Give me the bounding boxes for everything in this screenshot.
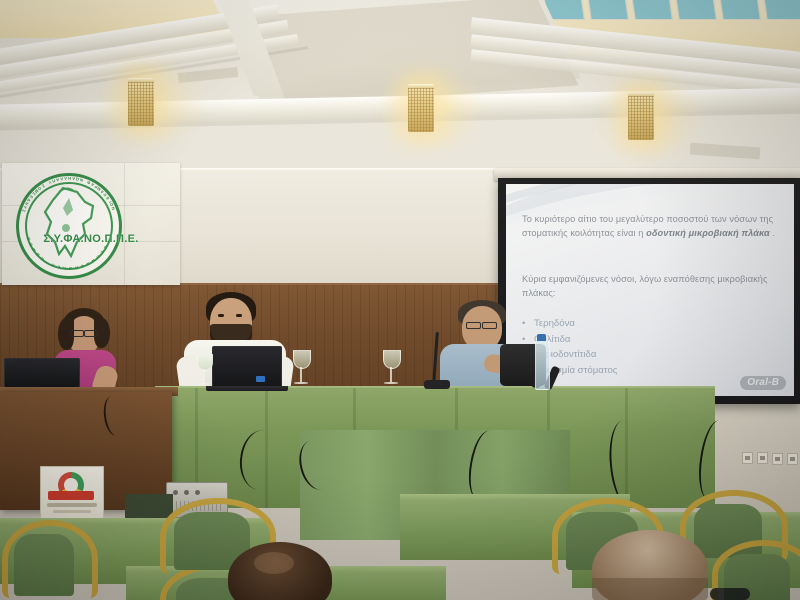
microphone-base — [424, 380, 450, 389]
hp-logo-icon — [256, 376, 265, 382]
eye-left — [218, 314, 224, 317]
slide-bullet-item: • Τερηδόνα — [522, 316, 782, 332]
audience-head-left-highlight — [254, 552, 294, 574]
slide-paragraph-1: Το κυριότερο αίτιο του μεγαλύτερο ποσοστ… — [522, 212, 782, 240]
oral-b-logo: Oral-B — [740, 376, 786, 390]
eyeglasses-on-table-icon — [710, 588, 750, 600]
eyeglasses-icon — [482, 322, 497, 329]
slide-bullet-item: • Κακοσμία στόματος — [522, 363, 782, 379]
wine-glass-left — [196, 354, 212, 390]
slide-bullet-item: • Περιοδοντίτιδα — [522, 347, 782, 363]
bullet-text: Τερηδόνα — [534, 318, 575, 329]
presenter-laptop-base — [206, 386, 288, 391]
power-outlet-2 — [757, 452, 768, 464]
wine-glass-right — [292, 350, 310, 390]
slide-p1-emphasis: οδοντική μικροβιακή πλάκα — [646, 228, 770, 238]
presenter-laptop-hp[interactable] — [212, 346, 282, 388]
slide-p2-text: Κύρια εμφανιζόμενες νόσοι, λόγω εναπόθεσ… — [522, 272, 782, 300]
eyeglasses-icon — [70, 330, 84, 337]
slide-bullet-list: • Τερηδόνα • Ουλίτιδα • Περιοδοντίτιδα •… — [522, 316, 782, 378]
sponsor-poster — [40, 466, 104, 526]
audience-head-right-hairline — [592, 578, 708, 600]
banner-ring-text: ΣΥΝΔΕΣΜΟΣ ΥΠΑΛΛΗΛΩΝ ΦΑΡΜΑΚΕΙΩΝΝΟΜΩΝ ΠΕΛΟ… — [19, 176, 119, 276]
sponsor-subtext — [53, 510, 91, 513]
sconce-light-center — [408, 84, 434, 132]
power-outlet-3 — [772, 453, 783, 465]
sponsor-name-band — [48, 491, 94, 500]
banner-acronym: Σ.Υ.ΦΑ.ΝΟ.Π.Π.Ε. — [16, 233, 166, 245]
skylight-panes — [543, 0, 800, 22]
organization-banner: ΣΥΝΔΕΣΜΟΣ ΥΠΑΛΛΗΛΩΝ ΦΑΡΜΑΚΕΙΩΝΝΟΜΩΝ ΠΕΛΟ… — [2, 163, 180, 285]
bottle-cap — [537, 334, 546, 341]
sponsor-tagline — [47, 503, 97, 507]
banquet-chair[interactable] — [2, 520, 98, 600]
power-outlet-4 — [787, 453, 798, 465]
sconce-light-left — [128, 78, 154, 126]
eyeglasses-icon — [84, 330, 98, 337]
podium-laptop[interactable] — [4, 358, 80, 388]
wine-glass-far-right — [382, 350, 400, 390]
ceiling-vent-right — [690, 143, 761, 160]
slide-p1-tail: . — [770, 228, 775, 238]
plastic-water-bottle — [535, 340, 550, 390]
sconce-light-right — [628, 92, 654, 140]
slide-bullet-item: • Ουλίτιδα — [522, 332, 782, 348]
conference-room-photo: ΣΥΝΔΕΣΜΟΣ ΥΠΑΛΛΗΛΩΝ ΦΑΡΜΑΚΕΙΩΝΝΟΜΩΝ ΠΕΛΟ… — [0, 0, 800, 600]
slide-paragraph-2: Κύρια εμφανιζόμενες νόσοι, λόγω εναπόθεσ… — [522, 272, 782, 300]
eye-right — [236, 314, 242, 317]
peloponnese-map-emblem-icon: ΣΥΝΔΕΣΜΟΣ ΥΠΑΛΛΗΛΩΝ ΦΑΡΜΑΚΕΙΩΝΝΟΜΩΝ ΠΕΛΟ… — [16, 173, 122, 279]
eyeglasses-icon — [466, 322, 481, 329]
power-outlet-1 — [742, 452, 753, 464]
